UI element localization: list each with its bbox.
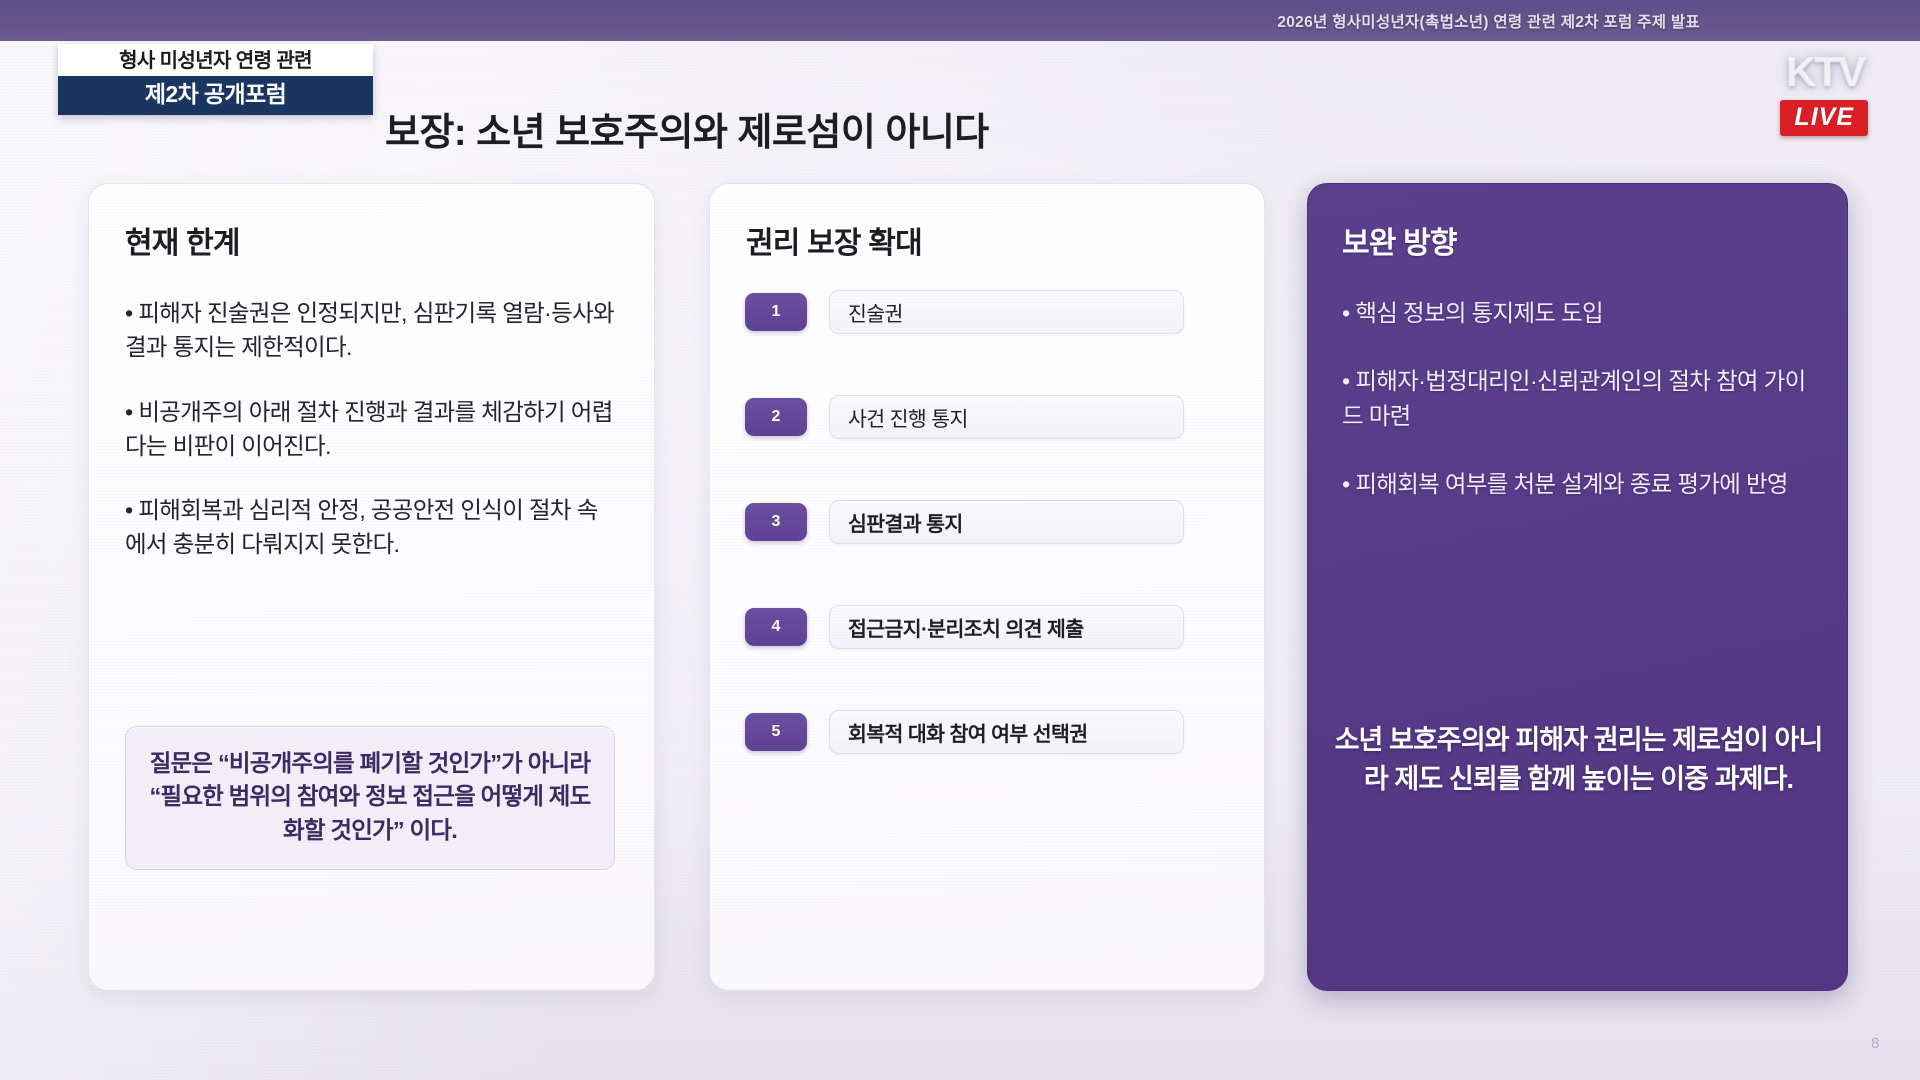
card-title-improvement-direction: 보완 방향: [1342, 218, 1813, 262]
rights-row-2: 2 사건 진행 통지: [745, 395, 1184, 439]
rights-label-4: 접근금지·분리조치 의견 제출: [829, 605, 1184, 649]
improvement-bullet-2: • 피해자·법정대리인·신뢰관계인의 절차 참여 가이드 마련: [1342, 364, 1813, 433]
rights-number-badge-2: 2: [745, 398, 807, 436]
quote-callout-box: 질문은 “비공개주의를 폐기할 것인가”가 아니라 “필요한 범위의 참여와 정…: [125, 726, 615, 870]
rights-label-3: 심판결과 통지: [829, 500, 1184, 544]
broadcast-top-strip: 2026년 형사미성년자(촉법소년) 연령 관련 제2차 포럼 주제 발표: [0, 0, 1920, 41]
broadcast-ticker-title: 2026년 형사미성년자(촉법소년) 연령 관련 제2차 포럼 주제 발표: [1277, 10, 1700, 32]
rights-row-3: 3 심판결과 통지: [745, 500, 1184, 544]
limit-bullet-1: • 피해자 진술권은 인정되지만, 심판기록 열람·등사와 결과 통지는 제한적…: [125, 296, 618, 365]
rights-row-4: 4 접근금지·분리조치 의견 제출: [745, 605, 1184, 649]
rights-row-5: 5 회복적 대화 참여 여부 선택권: [745, 710, 1184, 754]
rights-label-2: 사건 진행 통지: [829, 395, 1184, 439]
rights-number-badge-3: 3: [745, 503, 807, 541]
card-title-current-limits: 현재 한계: [125, 218, 618, 262]
slide-page-number: 8: [1871, 1035, 1880, 1052]
rights-number-badge-1: 1: [745, 293, 807, 331]
rights-label-5: 회복적 대화 참여 여부 선택권: [829, 710, 1184, 754]
rights-number-badge-4: 4: [745, 608, 807, 646]
banner-line-1: 형사 미성년자 연령 관련: [58, 44, 373, 76]
banner-line-2: 제2차 공개포럼: [58, 76, 373, 115]
rights-label-1: 진술권: [829, 290, 1184, 334]
card-improvement-direction: 보완 방향 • 핵심 정보의 통지제도 도입 • 피해자·법정대리인·신뢰관계인…: [1307, 183, 1848, 991]
channel-logo-ktv: KTV: [1786, 48, 1864, 96]
page-title: 보장: 소년 보호주의와 제로섬이 아니다: [385, 101, 1365, 156]
improvement-bullet-1: • 핵심 정보의 통지제도 도입: [1342, 296, 1813, 330]
live-badge: LIVE: [1780, 100, 1868, 136]
conclusion-statement: 소년 보호주의와 피해자 권리는 제로섬이 아니라 제도 신뢰를 함께 높이는 …: [1330, 721, 1827, 799]
limit-bullet-2: • 비공개주의 아래 절차 진행과 결과를 체감하기 어렵다는 비판이 이어진다…: [125, 395, 618, 464]
limit-bullet-3: • 피해회복과 심리적 안정, 공공안전 인식이 절차 속에서 충분히 다뤄지지…: [125, 493, 618, 562]
improvement-bullet-3: • 피해회복 여부를 처분 설계와 종료 평가에 반영: [1342, 467, 1813, 501]
presentation-slide: 보장: 소년 보호주의와 제로섬이 아니다 현재 한계 • 피해자 진술권은 인…: [0, 41, 1920, 1080]
rights-number-badge-5: 5: [745, 713, 807, 751]
forum-lower-third-banner: 형사 미성년자 연령 관련 제2차 공개포럼: [58, 44, 373, 115]
rights-row-1: 1 진술권: [745, 290, 1184, 334]
card-title-rights-expansion: 권리 보장 확대: [746, 218, 1228, 262]
